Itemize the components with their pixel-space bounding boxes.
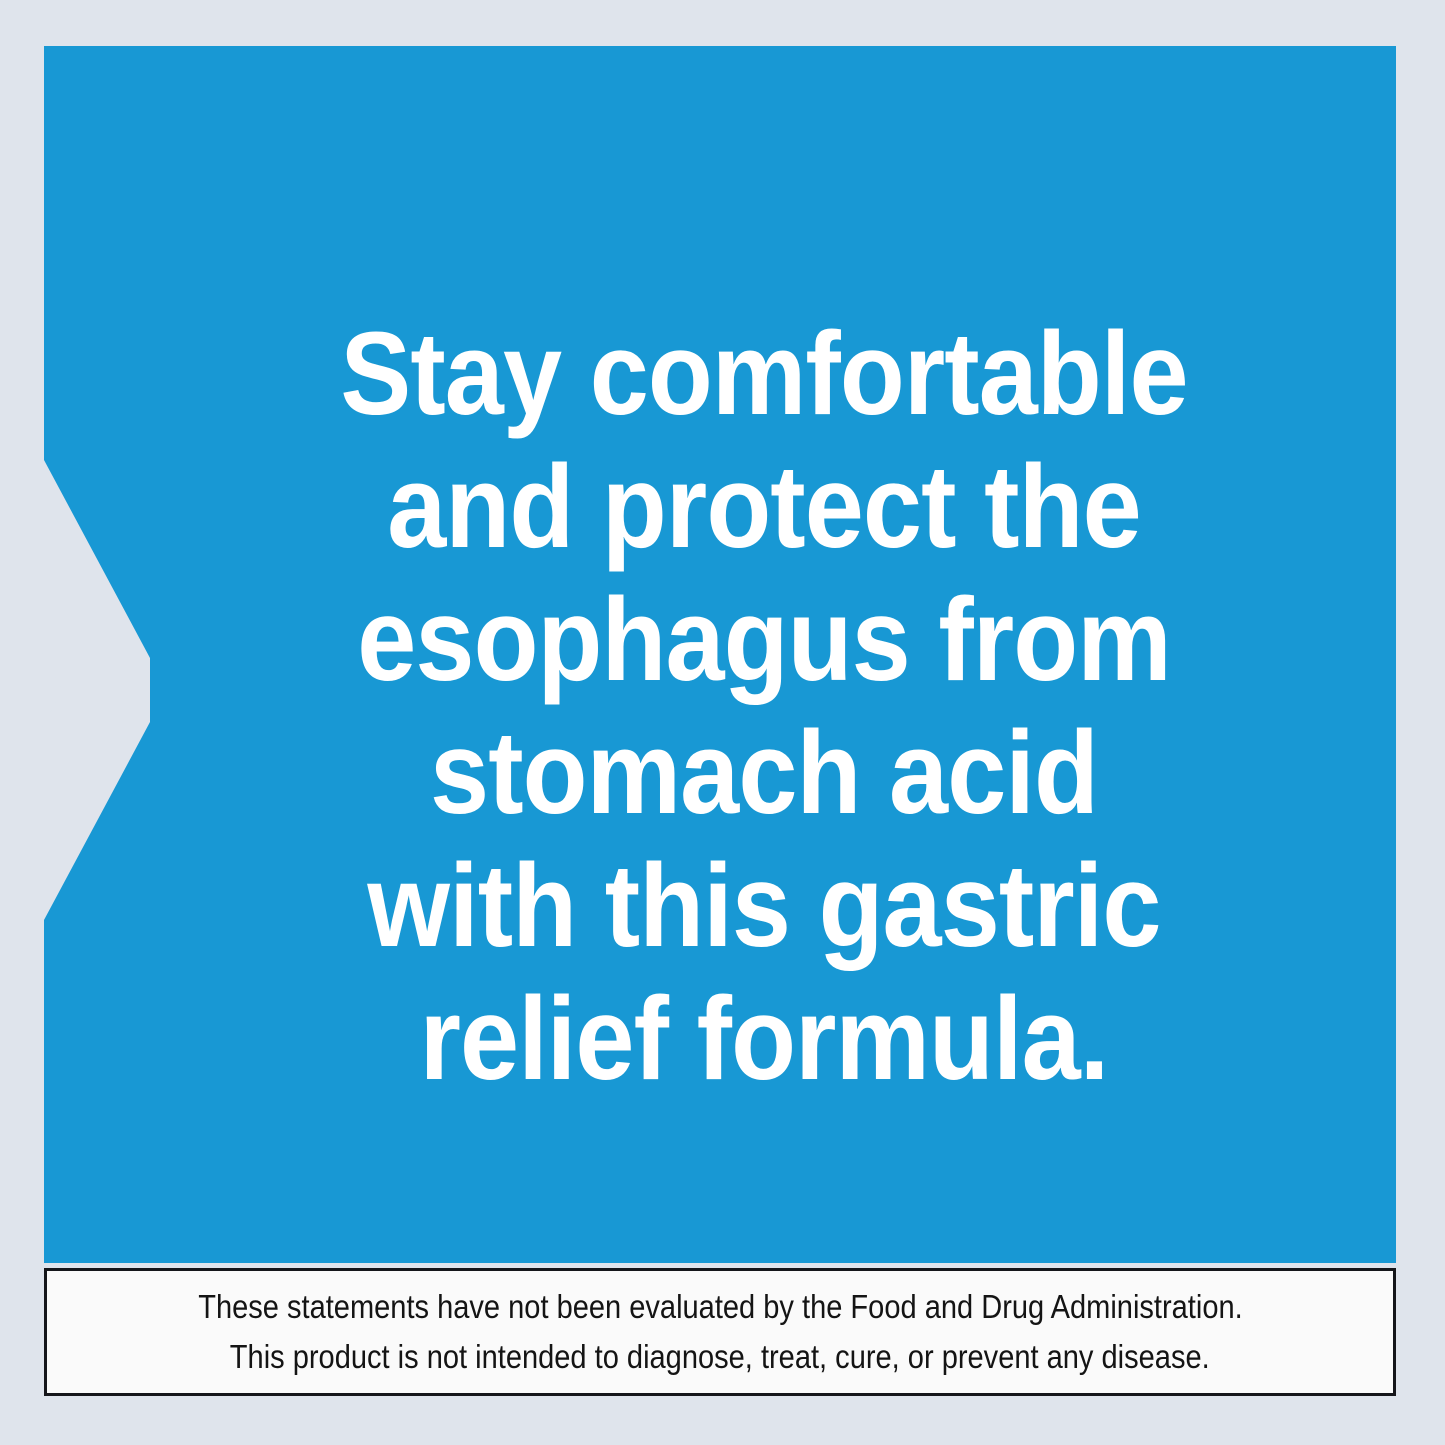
hero-panel: Stay comfortable and protect the esophag… (44, 46, 1396, 1263)
poster-canvas: Stay comfortable and protect the esophag… (0, 0, 1445, 1445)
fda-disclaimer-box: These statements have not been evaluated… (44, 1268, 1396, 1396)
disclaimer-line-2: This product is not intended to diagnose… (230, 1332, 1210, 1382)
page-title: Stay comfortable and protect the esophag… (278, 308, 1250, 1106)
disclaimer-line-1: These statements have not been evaluated… (198, 1282, 1242, 1332)
